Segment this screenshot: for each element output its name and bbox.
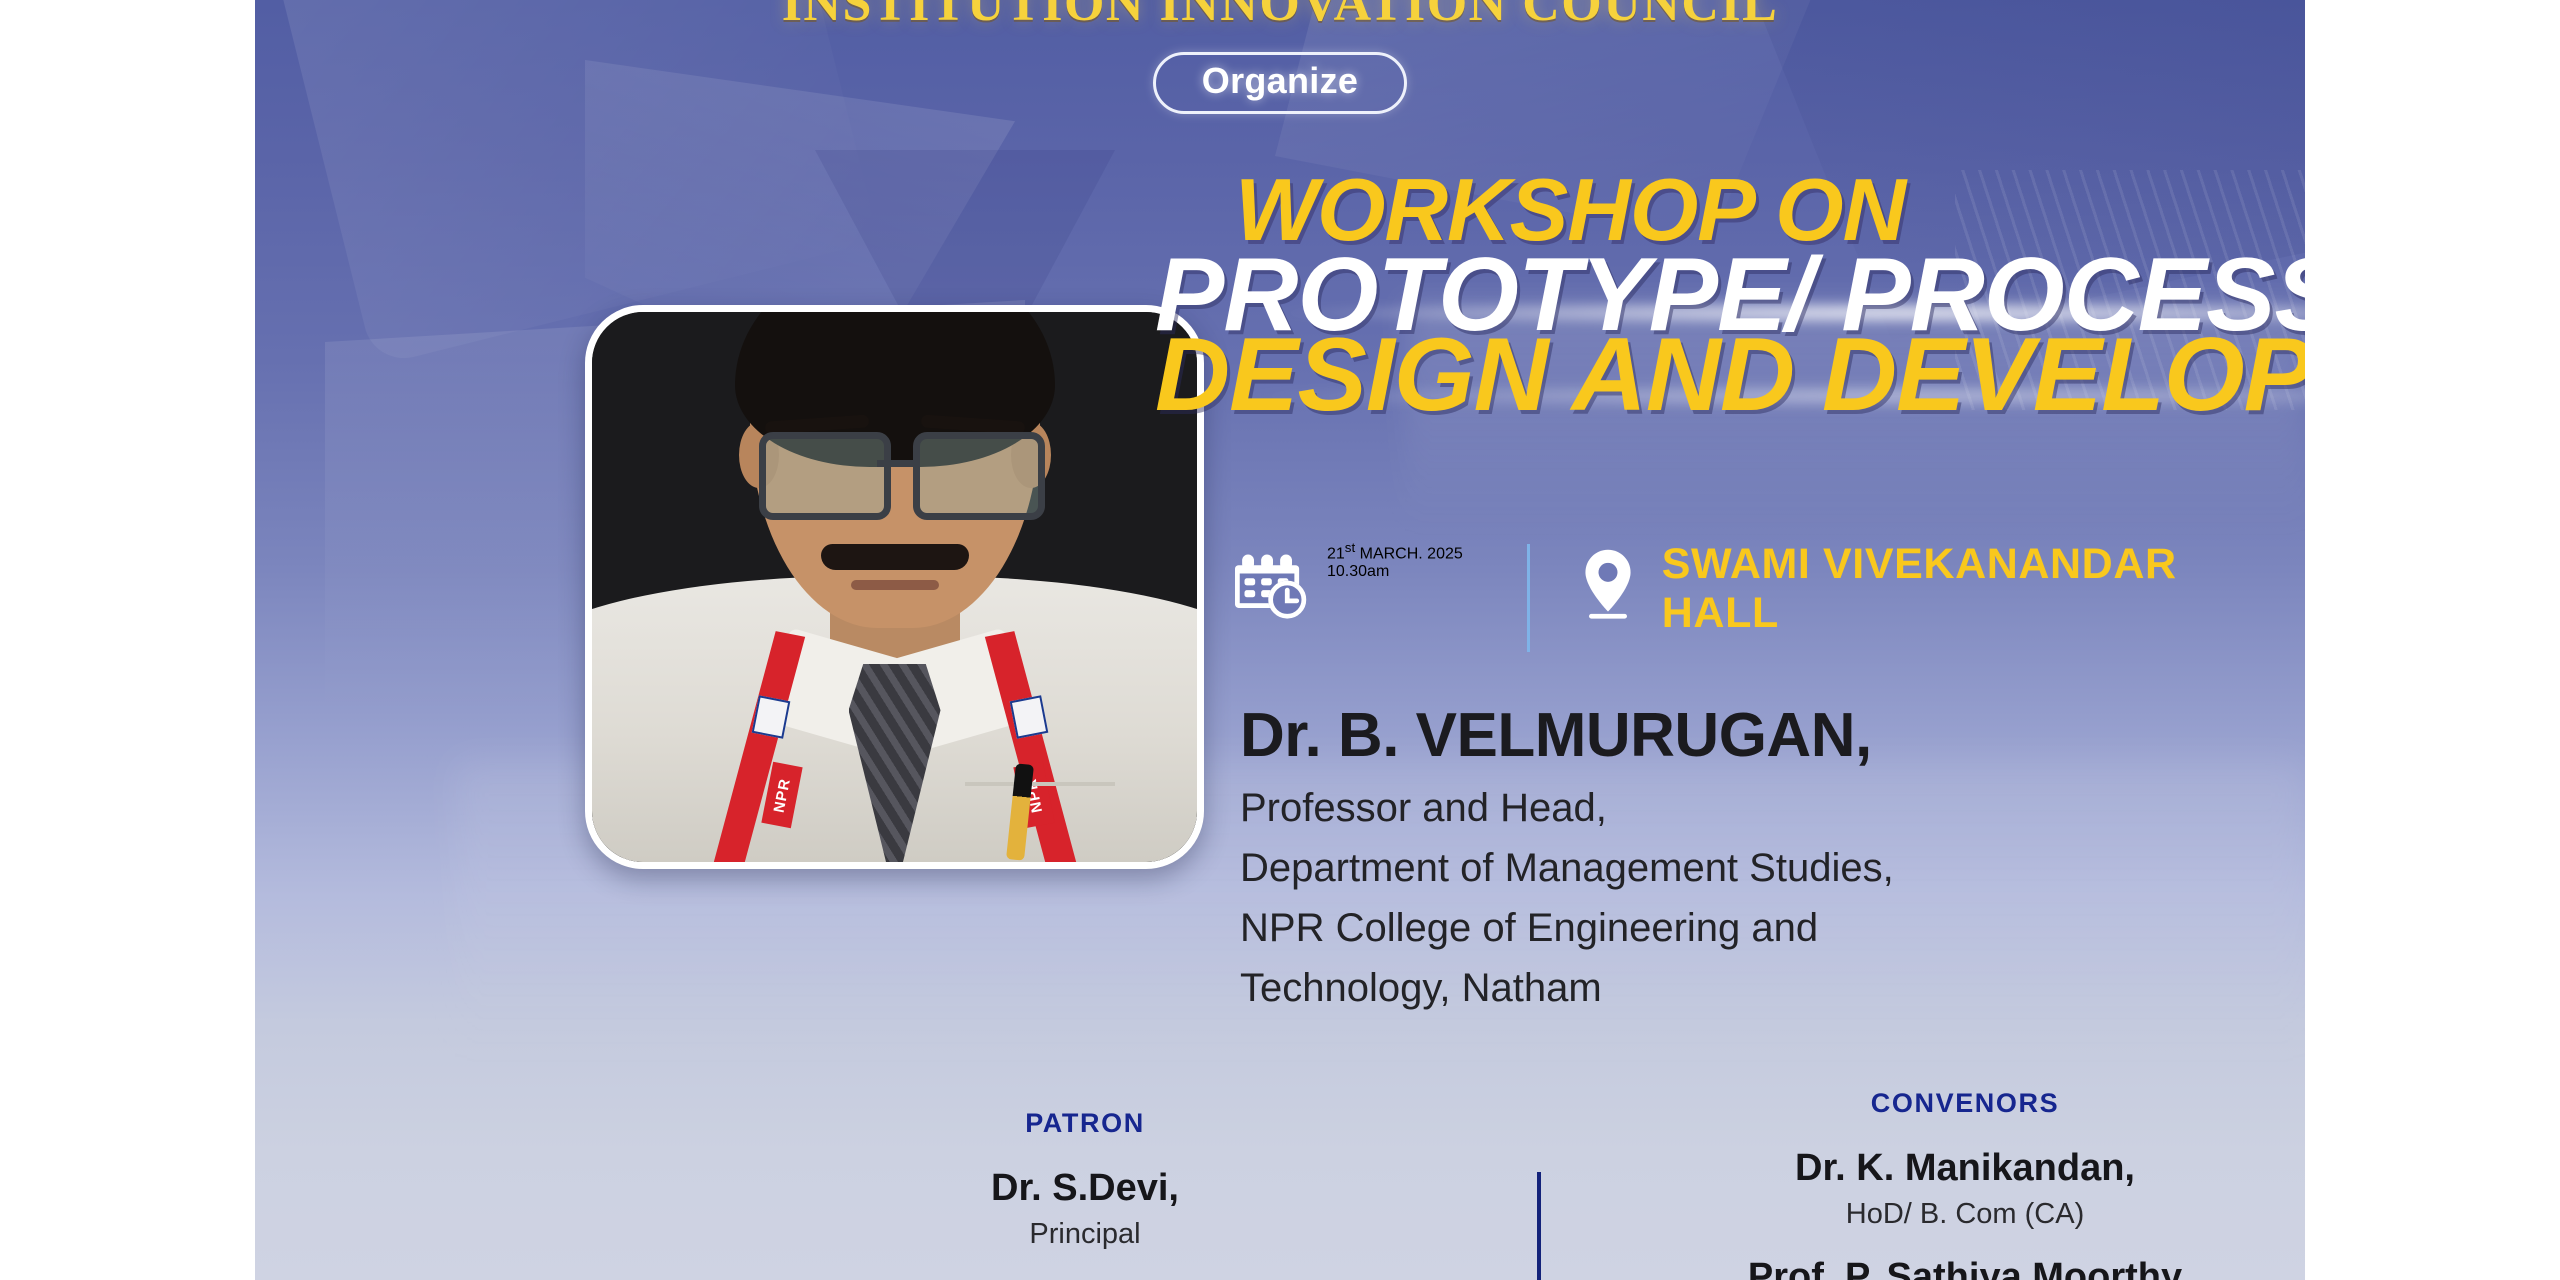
calendar-clock-icon	[1235, 540, 1311, 626]
event-venue: SWAMI VIVEKANANDAR HALL	[1662, 540, 2177, 638]
portrait-lanyard-badge-left	[751, 695, 790, 738]
screenshot-canvas: INSTITUTION INNOVATION COUNCIL Organize	[0, 0, 2560, 1280]
council-title: INSTITUTION INNOVATION COUNCIL	[255, 0, 2305, 33]
venue-line-1: SWAMI VIVEKANANDAR	[1662, 540, 2177, 589]
patron-heading: PATRON	[815, 1108, 1355, 1139]
meta-divider	[1527, 544, 1530, 652]
location-pin-icon	[1570, 540, 1646, 626]
portrait-glasses-bridge	[877, 460, 913, 467]
organize-badge: Organize	[1153, 52, 1407, 114]
affiliation-line-3: NPR College of Engineering and	[1240, 898, 1894, 958]
portrait-glasses-right	[913, 432, 1045, 520]
affiliation-line-1: Professor and Head,	[1240, 778, 1894, 838]
affiliation-line-2: Department of Management Studies,	[1240, 838, 1894, 898]
venue-line-2: HALL	[1662, 589, 2177, 638]
speaker-affiliation: Professor and Head, Department of Manage…	[1240, 778, 1894, 1018]
speaker-name: Dr. B. VELMURUGAN,	[1240, 700, 1872, 771]
event-meta-row: 21st MARCH. 2025 10.30am SWAMI VIVEKANAN…	[1235, 540, 2177, 652]
event-day: 21	[1327, 545, 1345, 562]
patron-name: Dr. S.Devi,	[815, 1165, 1355, 1211]
event-date-block: 21st MARCH. 2025 10.30am	[1327, 540, 1463, 581]
event-day-suffix: st	[1345, 540, 1355, 555]
event-month-year: MARCH. 2025	[1355, 545, 1463, 562]
portrait-lanyard-badge-right	[1009, 695, 1048, 738]
affiliation-line-4: Technology, Natham	[1240, 958, 1894, 1018]
convenor-role-1: HoD/ B. Com (CA)	[1635, 1196, 2295, 1234]
convenors-heading: CONVENORS	[1635, 1088, 2295, 1119]
workshop-title-line3: DESIGN AND DEVELOPMENT	[1155, 326, 2305, 426]
portrait-lips	[851, 580, 939, 590]
portrait-moustache	[821, 544, 969, 570]
event-date: 21st MARCH. 2025	[1327, 540, 1463, 563]
patron-role: Principal	[815, 1216, 1355, 1254]
speaker-photo: NPR NPR	[592, 312, 1197, 862]
convenor-name-1: Dr. K. Manikandan,	[1635, 1145, 2295, 1191]
credits-divider	[1537, 1172, 1541, 1280]
convenors-block: CONVENORS Dr. K. Manikandan, HoD/ B. Com…	[1635, 1088, 2295, 1280]
organize-badge-wrap: Organize	[255, 52, 2305, 114]
speaker-photo-card: NPR NPR	[585, 305, 1204, 869]
lanyard-label-left: NPR	[770, 776, 793, 813]
portrait-pocket	[965, 782, 1115, 862]
event-poster: INSTITUTION INNOVATION COUNCIL Organize	[255, 0, 2305, 1280]
event-time: 10.30am	[1327, 563, 1463, 581]
portrait-glasses-left	[759, 432, 891, 520]
convenor-name-2: Prof. P. Sathiya Moorthy	[1635, 1256, 2295, 1280]
patron-block: PATRON Dr. S.Devi, Principal	[815, 1108, 1355, 1254]
